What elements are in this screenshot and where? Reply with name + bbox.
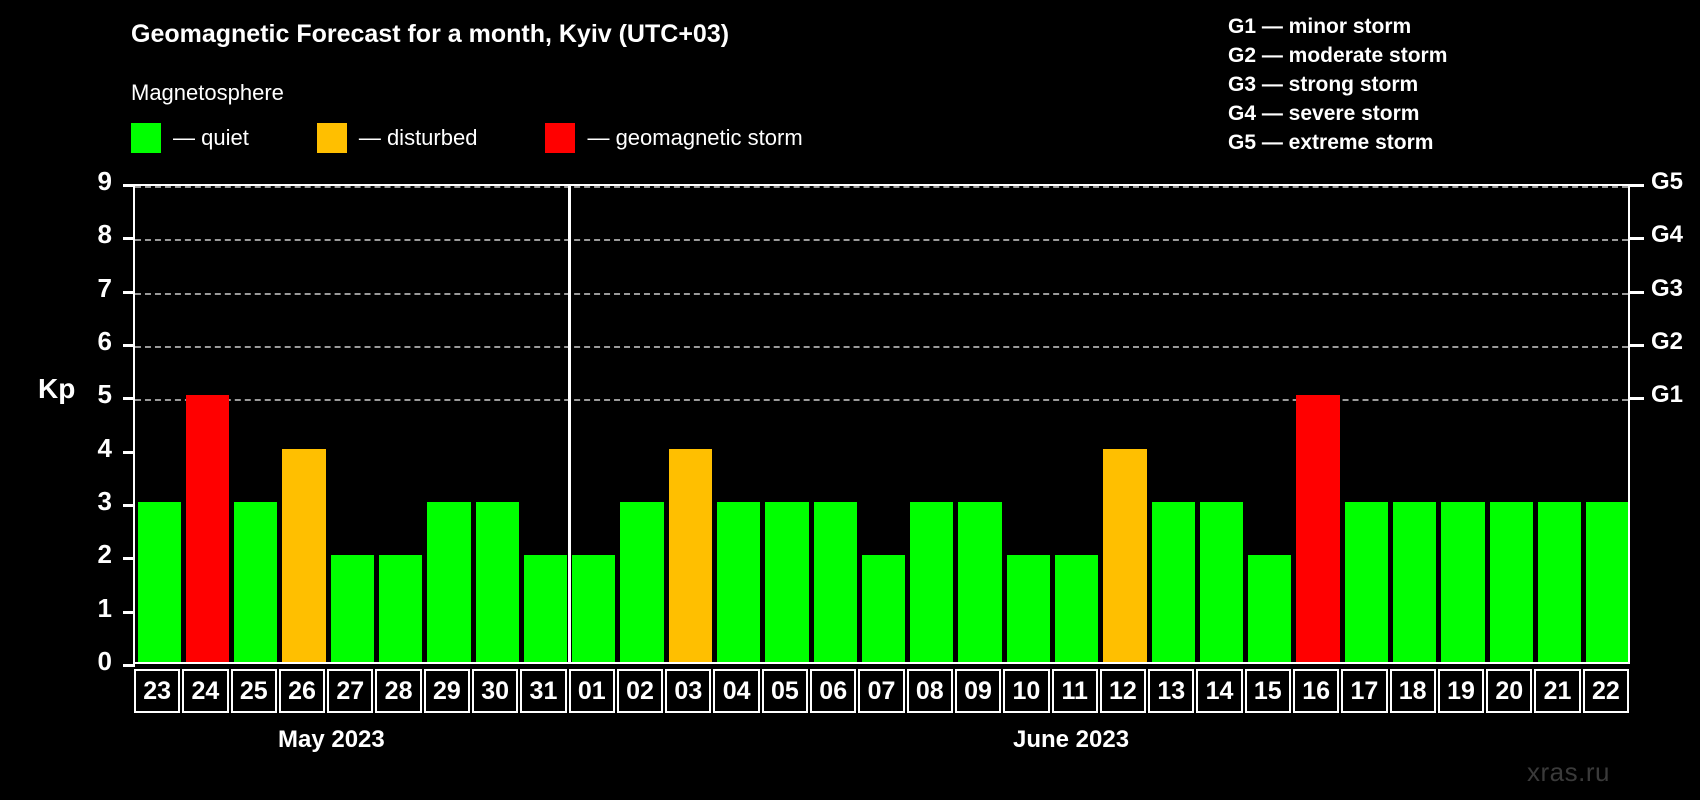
legend-item: — disturbed xyxy=(317,123,478,153)
watermark: xras.ru xyxy=(1527,757,1610,788)
g-axis-tick-label: G1 xyxy=(1651,381,1683,409)
x-axis-day-label[interactable]: 05 xyxy=(762,669,808,713)
bar[interactable] xyxy=(958,502,1001,662)
bars-layer xyxy=(135,186,1628,662)
geomagnetic-forecast-chart: Geomagnetic Forecast for a month, Kyiv (… xyxy=(0,0,1700,800)
bar[interactable] xyxy=(814,502,857,662)
g-scale-line: G2 — moderate storm xyxy=(1228,41,1447,70)
y-axis-tick-label: 0 xyxy=(72,646,112,677)
bar[interactable] xyxy=(1441,502,1484,662)
plot-area xyxy=(133,184,1630,664)
bar[interactable] xyxy=(572,555,615,662)
green-square-icon xyxy=(131,123,161,153)
g-scale-line: G1 — minor storm xyxy=(1228,12,1447,41)
x-axis-day-label[interactable]: 15 xyxy=(1245,669,1291,713)
x-axis-day-label[interactable]: 04 xyxy=(713,669,759,713)
bar[interactable] xyxy=(1296,395,1339,662)
x-axis-day-label[interactable]: 26 xyxy=(279,669,325,713)
page-title: Geomagnetic Forecast for a month, Kyiv (… xyxy=(131,20,729,49)
x-axis-day-label[interactable]: 17 xyxy=(1341,669,1387,713)
bar[interactable] xyxy=(1055,555,1098,662)
bar[interactable] xyxy=(717,502,760,662)
g-scale-line: G3 — strong storm xyxy=(1228,70,1447,99)
g-axis-tick xyxy=(1630,344,1644,347)
x-axis-day-label[interactable]: 14 xyxy=(1196,669,1242,713)
bar[interactable] xyxy=(476,502,519,662)
month-caption-may: May 2023 xyxy=(278,726,385,754)
bar[interactable] xyxy=(862,555,905,662)
x-axis-day-label[interactable]: 23 xyxy=(134,669,180,713)
bar[interactable] xyxy=(379,555,422,662)
x-axis-day-label[interactable]: 11 xyxy=(1052,669,1098,713)
g-axis-tick-label: G3 xyxy=(1651,275,1683,303)
legend-item-label: — disturbed xyxy=(359,125,478,151)
x-axis-day-label[interactable]: 12 xyxy=(1100,669,1146,713)
g-axis-tick-label: G5 xyxy=(1651,168,1683,196)
bar[interactable] xyxy=(282,449,325,662)
bar[interactable] xyxy=(765,502,808,662)
bar[interactable] xyxy=(1586,502,1628,662)
bar[interactable] xyxy=(1490,502,1533,662)
y-axis-tick xyxy=(123,664,135,667)
legend-item: — quiet xyxy=(131,123,249,153)
x-axis-day-label[interactable]: 18 xyxy=(1390,669,1436,713)
magnetosphere-legend: — quiet— disturbed— geomagnetic storm xyxy=(131,122,803,154)
g-scale-line: G4 — severe storm xyxy=(1228,99,1447,128)
bar[interactable] xyxy=(669,449,712,662)
bar[interactable] xyxy=(524,555,567,662)
g-axis-tick xyxy=(1630,291,1644,294)
x-axis-day-label[interactable]: 03 xyxy=(665,669,711,713)
y-axis-tick-label: 7 xyxy=(72,273,112,304)
bar[interactable] xyxy=(331,555,374,662)
month-caption-june: June 2023 xyxy=(1013,726,1129,754)
g-axis-tick xyxy=(1630,237,1644,240)
bar[interactable] xyxy=(1345,502,1388,662)
y-axis-tick-label: 9 xyxy=(72,166,112,197)
y-axis-tick-label: 8 xyxy=(72,219,112,250)
g-axis-tick xyxy=(1630,397,1644,400)
g-scale-legend: G1 — minor stormG2 — moderate stormG3 — … xyxy=(1228,12,1447,157)
x-axis-day-label[interactable]: 25 xyxy=(231,669,277,713)
legend-item: — geomagnetic storm xyxy=(545,123,802,153)
y-axis-tick-label: 2 xyxy=(72,539,112,570)
bar[interactable] xyxy=(1248,555,1291,662)
x-axis-day-label[interactable]: 19 xyxy=(1438,669,1484,713)
legend-item-label: — quiet xyxy=(173,125,249,151)
x-axis-day-label[interactable]: 27 xyxy=(327,669,373,713)
g-axis-tick-label: G2 xyxy=(1651,328,1683,356)
y-axis-tick-label: 6 xyxy=(72,326,112,357)
legend-item-label: — geomagnetic storm xyxy=(587,125,802,151)
x-axis-day-label[interactable]: 29 xyxy=(424,669,470,713)
orange-square-icon xyxy=(317,123,347,153)
y-axis-tick-label: 1 xyxy=(72,593,112,624)
x-axis-day-label[interactable]: 08 xyxy=(907,669,953,713)
x-axis-day-label[interactable]: 30 xyxy=(472,669,518,713)
x-axis-day-label[interactable]: 13 xyxy=(1148,669,1194,713)
bar[interactable] xyxy=(1152,502,1195,662)
x-axis-day-label[interactable]: 20 xyxy=(1486,669,1532,713)
bar[interactable] xyxy=(1007,555,1050,662)
x-axis-day-label[interactable]: 07 xyxy=(858,669,904,713)
magnetosphere-section-label: Magnetosphere xyxy=(131,80,284,106)
x-axis-day-label[interactable]: 01 xyxy=(569,669,615,713)
bar[interactable] xyxy=(620,502,663,662)
bar[interactable] xyxy=(910,502,953,662)
bar[interactable] xyxy=(1393,502,1436,662)
y-axis-title: Kp xyxy=(38,373,75,405)
bar[interactable] xyxy=(1103,449,1146,662)
g-axis-tick xyxy=(1630,184,1644,187)
bar[interactable] xyxy=(1538,502,1581,662)
bar[interactable] xyxy=(1200,502,1243,662)
x-axis-day-label[interactable]: 31 xyxy=(520,669,566,713)
red-square-icon xyxy=(545,123,575,153)
g-scale-line: G5 — extreme storm xyxy=(1228,128,1447,157)
bar[interactable] xyxy=(427,502,470,662)
x-axis-day-label[interactable]: 24 xyxy=(182,669,228,713)
y-axis-tick-label: 3 xyxy=(72,486,112,517)
y-axis-tick-label: 5 xyxy=(72,379,112,410)
x-axis-day-label[interactable]: 16 xyxy=(1293,669,1339,713)
x-axis-day-label[interactable]: 09 xyxy=(955,669,1001,713)
x-axis-day-label[interactable]: 10 xyxy=(1003,669,1049,713)
x-axis-day-label[interactable]: 21 xyxy=(1534,669,1580,713)
bar[interactable] xyxy=(186,395,229,662)
x-axis-day-label[interactable]: 06 xyxy=(810,669,856,713)
bar[interactable] xyxy=(138,502,181,662)
bar[interactable] xyxy=(234,502,277,662)
x-axis-day-label[interactable]: 22 xyxy=(1583,669,1629,713)
y-axis-tick-label: 4 xyxy=(72,433,112,464)
x-axis-day-label[interactable]: 02 xyxy=(617,669,663,713)
month-separator xyxy=(568,186,571,662)
plot-inner xyxy=(135,186,1628,662)
g-axis-tick-label: G4 xyxy=(1651,221,1683,249)
x-axis-day-label[interactable]: 28 xyxy=(375,669,421,713)
